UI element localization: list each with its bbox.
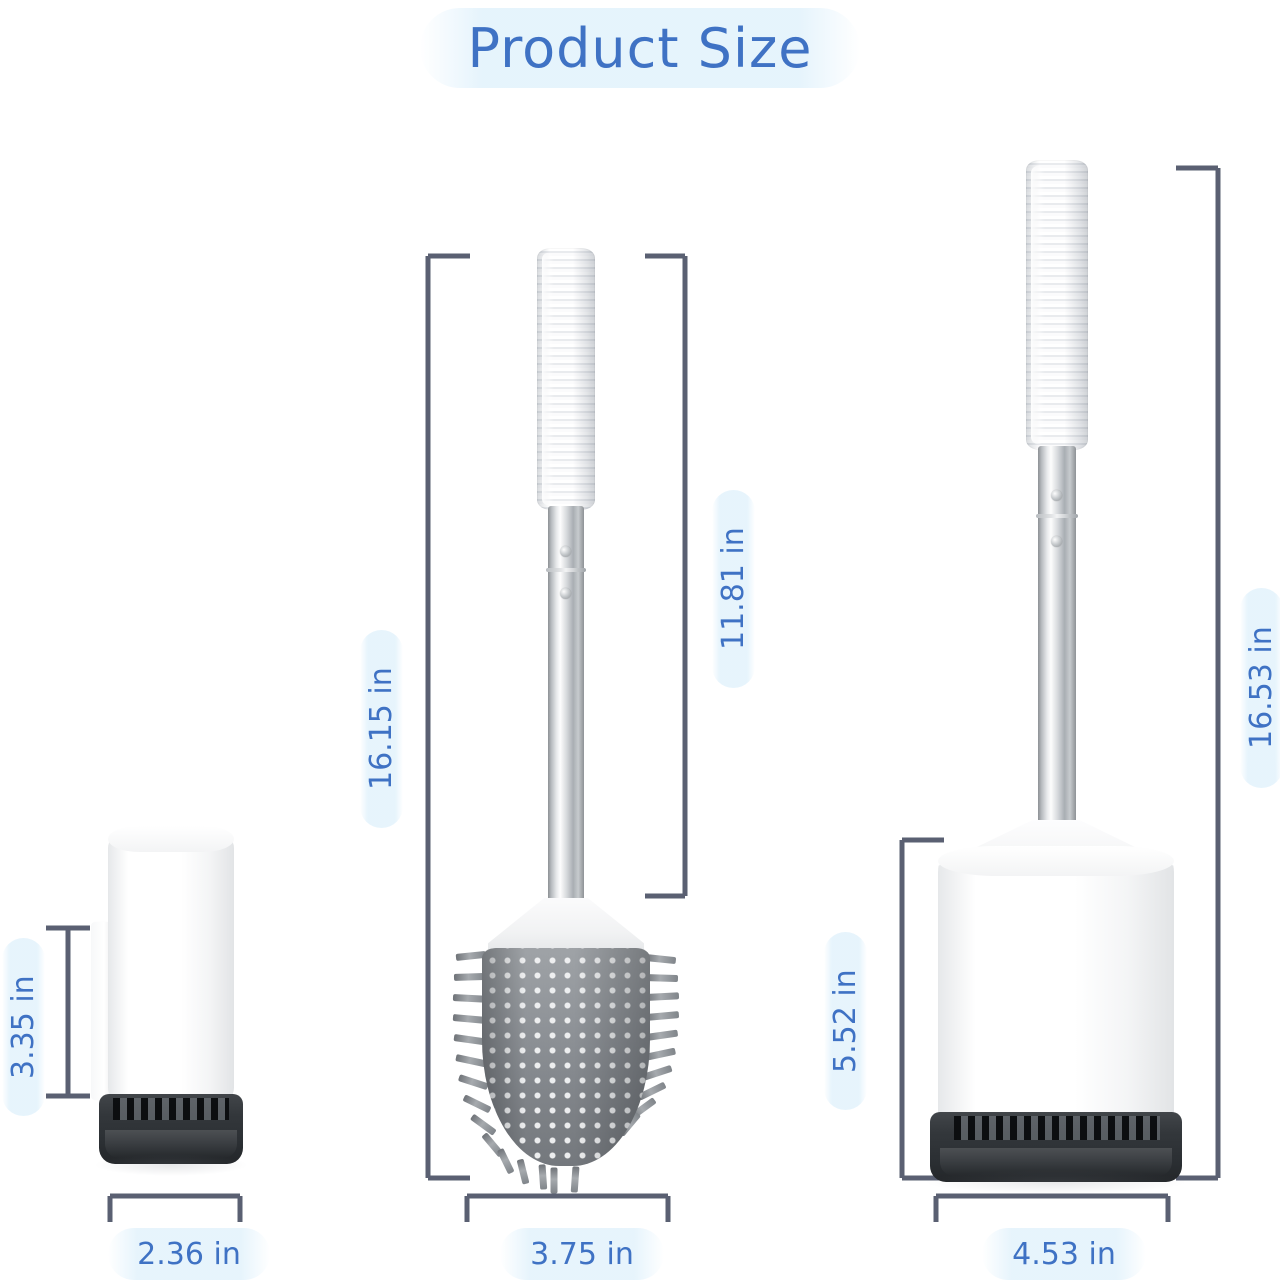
dimension-label-16-15: 16.15 in <box>360 630 403 828</box>
dimension-line-3-35 <box>46 928 90 1096</box>
dimension-line-3-75 <box>467 1196 668 1222</box>
set-holder-cup-body <box>938 856 1174 1128</box>
dimension-line-4-53 <box>936 1196 1168 1222</box>
set-ground-shadow <box>924 1170 1188 1194</box>
brush-bristle <box>646 1030 679 1041</box>
page-title: Product Size <box>467 17 812 80</box>
dimension-label-11-81: 11.81 in <box>712 490 755 688</box>
dimension-label-5-52: 5.52 in <box>824 932 867 1110</box>
holder-base-vent-slots <box>113 1098 229 1120</box>
brush-bristle <box>646 954 677 964</box>
holder-cylinder-top-rim <box>108 826 234 852</box>
set-holder-cup-rim <box>938 846 1174 876</box>
set-shaft-button-lower <box>1051 536 1062 547</box>
dimension-line-16-53 <box>1176 168 1218 1178</box>
brush-bristle <box>646 992 679 1001</box>
dimension-label-4-53: 4.53 in <box>982 1228 1146 1280</box>
dimension-label-3-75: 3.75 in <box>500 1228 664 1280</box>
dimension-label-2-36: 2.36 in <box>108 1228 270 1280</box>
dimension-line-2-36 <box>110 1196 240 1222</box>
set-handle-grip <box>1026 160 1088 450</box>
product-silicone-toilet-brush <box>460 248 680 1182</box>
brush-shaft-button-lower <box>560 588 571 599</box>
set-shaft-button-upper <box>1051 490 1062 501</box>
dimension-label-16-53: 16.53 in <box>1240 588 1280 788</box>
brush-bristle <box>646 974 678 982</box>
brush-head-shading <box>482 948 650 1166</box>
brush-shaft-button-upper <box>560 546 571 557</box>
product-wall-mount-holder <box>90 826 250 1182</box>
brush-bristle <box>551 1168 558 1194</box>
brush-bristle <box>646 1011 679 1021</box>
product-size-diagram: Product Size <box>0 0 1280 1280</box>
holder-cylinder-body <box>108 834 234 1102</box>
brush-bristle <box>571 1166 580 1192</box>
set-shaft-joint-seam <box>1036 514 1078 518</box>
brush-bristle <box>539 1164 548 1189</box>
brush-telescoping-shaft <box>548 506 584 904</box>
brush-silicone-head <box>482 948 650 1180</box>
set-telescoping-shaft <box>1038 446 1076 844</box>
set-base-vent-slots <box>954 1116 1160 1140</box>
brush-head-face <box>482 948 650 1166</box>
brush-shaft-joint-seam <box>546 568 586 572</box>
product-brush-with-holder <box>930 160 1180 1182</box>
holder-ground-shadow <box>94 1154 248 1176</box>
page-title-banner: Product Size <box>420 8 860 88</box>
dimension-label-3-35: 3.35 in <box>2 938 45 1116</box>
brush-handle-grip <box>537 248 595 510</box>
